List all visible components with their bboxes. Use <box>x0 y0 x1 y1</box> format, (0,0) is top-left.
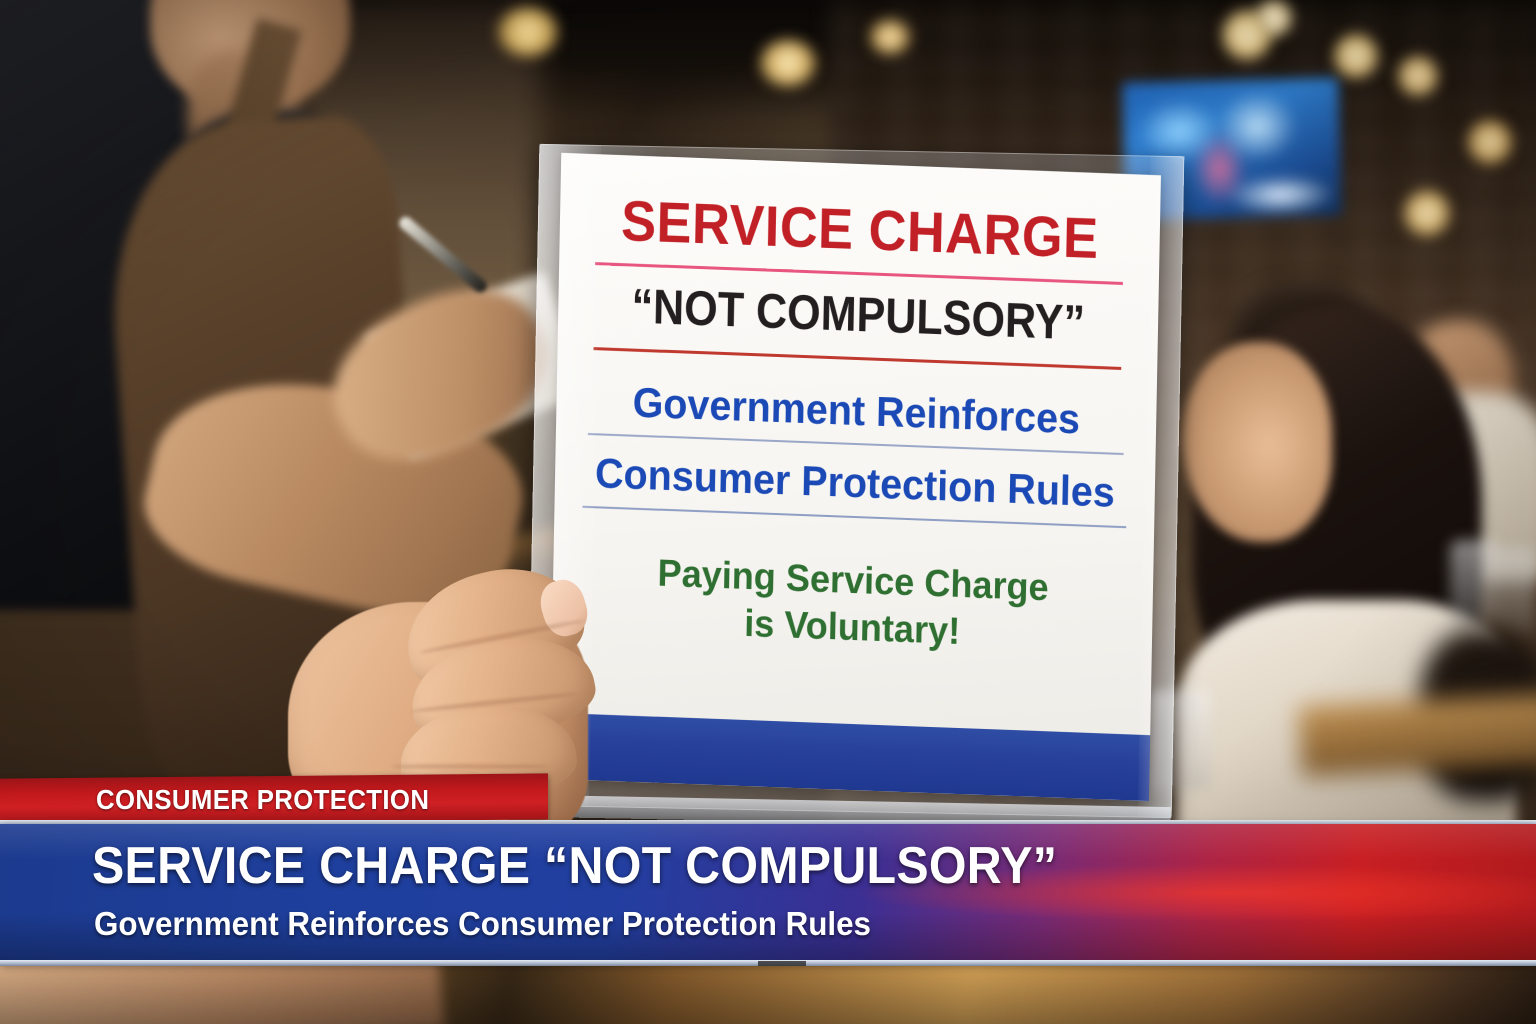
sign-body-line-1: Government Reinforces <box>595 380 1118 442</box>
sign-subtitle: “NOT COMPULSORY” <box>613 282 1103 349</box>
screenshot-stage: SERVICE CHARGE “NOT COMPULSORY” Governme… <box>0 0 1536 1024</box>
sign-rule-red <box>593 347 1121 370</box>
sign-card: SERVICE CHARGE “NOT COMPULSORY” Governme… <box>549 153 1161 801</box>
sign-body-line-2: Consumer Protection Rules <box>593 452 1116 514</box>
sign-title: SERVICE CHARGE <box>604 192 1116 268</box>
sign-holder: SERVICE CHARGE “NOT COMPULSORY” Governme… <box>527 144 1185 821</box>
finger-crease <box>392 764 548 769</box>
holding-hand <box>288 556 618 856</box>
foreground-table-shadow <box>0 960 1536 1024</box>
